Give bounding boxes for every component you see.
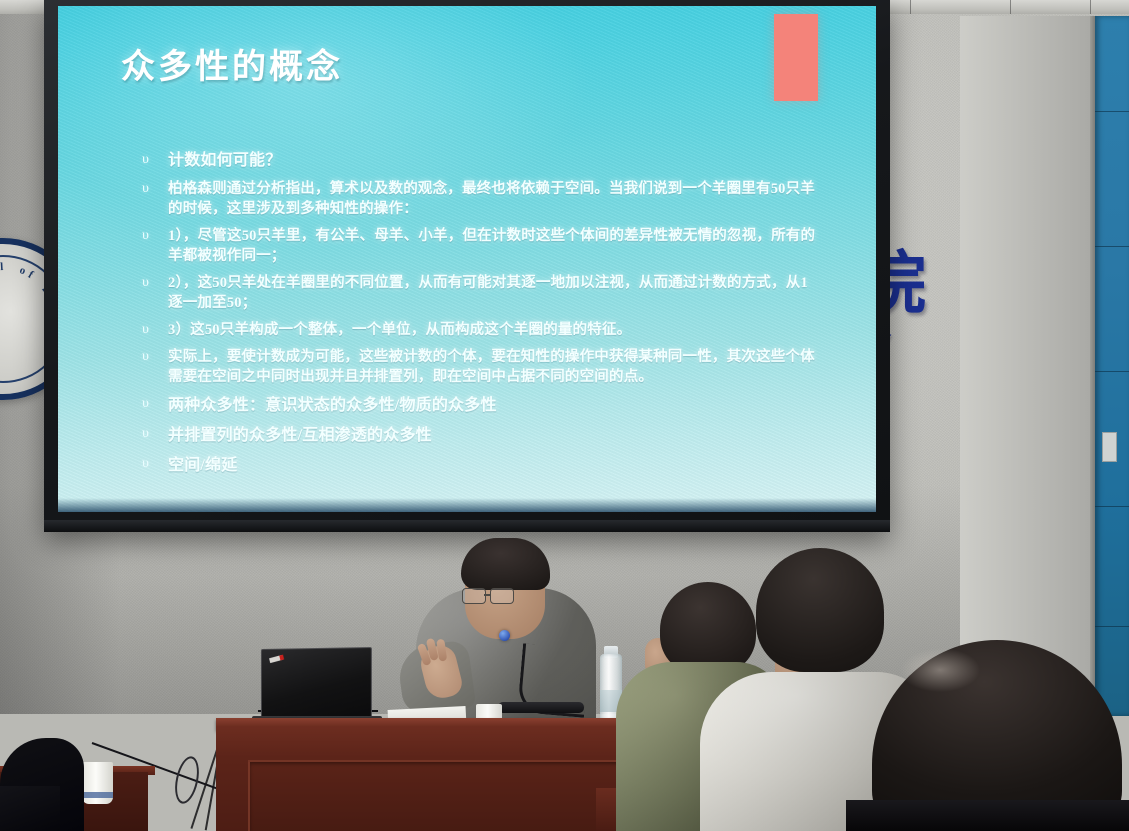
blue-tile-column (1095, 16, 1129, 716)
wall-outlet (1102, 432, 1117, 462)
bullet-marker-icon: υ (142, 394, 168, 414)
slide-bullet-item: υ并排置列的众多性/互相渗透的众多性 (142, 424, 822, 447)
bullet-marker-icon: υ (142, 273, 168, 293)
audience-member-head (660, 582, 756, 674)
microphone-base (498, 702, 584, 713)
slide-bullet-item: υ2），这50只羊处在羊圈里的不同位置，从而有可能对其逐一地加以注视，从而通过计… (142, 273, 822, 313)
bullet-marker-icon: υ (142, 424, 168, 444)
slide-bullet-text: 2），这50只羊处在羊圈里的不同位置，从而有可能对其逐一地加以注视，从而通过计数… (168, 273, 822, 313)
bullet-marker-icon: υ (142, 150, 168, 170)
tile-seam (1095, 111, 1129, 112)
cable-loop (171, 754, 202, 806)
laptop-logo (269, 655, 283, 663)
slide-bullet-text: 并排置列的众多性/互相渗透的众多性 (168, 424, 822, 447)
lecture-room-photo: School of Phi 院 ity 众多性的概念 υ计数如何可能？υ柏格森则… (0, 0, 1129, 831)
audience-member-body (846, 800, 1129, 831)
tile-seam (1095, 246, 1129, 247)
bullet-marker-icon: υ (142, 454, 168, 474)
tile-seam (1095, 506, 1129, 507)
laptop[interactable] (261, 647, 372, 724)
slide-bullet-text: 3）这50只羊构成一个整体，一个单位，从而构成这个羊圈的量的特征。 (168, 320, 822, 340)
slide-bullet-item: υ空间/绵延 (142, 454, 822, 477)
audience-member-head (756, 548, 884, 672)
slide-bullet-item: υ计数如何可能？ (142, 150, 822, 172)
paper-cup (82, 762, 113, 804)
slide-bullet-text: 1），尽管这50只羊里，有公羊、母羊、小羊，但在计数时这些个体间的差异性被无情的… (168, 226, 822, 266)
emblem-letter: f (26, 269, 35, 281)
tile-seam (1095, 371, 1129, 372)
tile-seam (1095, 626, 1129, 627)
bullet-marker-icon: υ (142, 179, 168, 199)
slide-bullet-text: 柏格森则通过分析指出，算术以及数的观念，最终也将依赖于空间。当我们说到一个羊圈里… (168, 179, 822, 219)
slide-bullet-item: υ3）这50只羊构成一个整体，一个单位，从而构成这个羊圈的量的特征。 (142, 320, 822, 340)
emblem-letter: l (0, 261, 4, 273)
slide-bottom-shade (58, 498, 876, 512)
hair-highlight (900, 648, 980, 692)
slide-accent-block (774, 14, 818, 101)
bullet-marker-icon: υ (142, 320, 168, 340)
slide-bullet-text: 实际上，要使计数成为可能，这些被计数的个体，要在知性的操作中获得某种同一性，其次… (168, 347, 822, 387)
glasses-lens-left (462, 588, 486, 604)
projection-screen-frame: 众多性的概念 υ计数如何可能？υ柏格森则通过分析指出，算术以及数的观念，最终也将… (44, 0, 890, 532)
slide-bullet-text: 两种众多性：意识状态的众多性/物质的众多性 (168, 394, 822, 417)
slide-bullet-item: υ两种众多性：意识状态的众多性/物质的众多性 (142, 394, 822, 417)
glasses-bridge (484, 594, 491, 596)
presentation-slide[interactable]: 众多性的概念 υ计数如何可能？υ柏格森则通过分析指出，算术以及数的观念，最终也将… (58, 6, 876, 512)
presenter-glasses (462, 588, 522, 603)
bullet-marker-icon: υ (142, 226, 168, 246)
slide-bullet-text: 空间/绵延 (168, 454, 822, 477)
bullet-marker-icon: υ (142, 347, 168, 367)
slide-title: 众多性的概念 (121, 39, 343, 88)
slide-bullet-item: υ柏格森则通过分析指出，算术以及数的观念，最终也将依赖于空间。当我们说到一个羊圈… (142, 179, 822, 219)
wall-right-panel (960, 16, 1090, 716)
slide-bullet-list: υ计数如何可能？υ柏格森则通过分析指出，算术以及数的观念，最终也将依赖于空间。当… (142, 150, 822, 484)
slide-bullet-item: υ1），尽管这50只羊里，有公羊、母羊、小羊，但在计数时这些个体间的差异性被无情… (142, 226, 822, 266)
lapel-badge (499, 630, 510, 641)
slide-bullet-text: 计数如何可能？ (168, 150, 822, 172)
presenter-hair (461, 538, 550, 590)
emblem-letter: o (18, 264, 27, 277)
podium-front-panel (248, 760, 622, 831)
audience-member-body (0, 786, 60, 831)
slide-bullet-item: υ实际上，要使计数成为可能，这些被计数的个体，要在知性的操作中获得某种同一性，其… (142, 347, 822, 387)
glasses-lens-right (490, 588, 514, 604)
